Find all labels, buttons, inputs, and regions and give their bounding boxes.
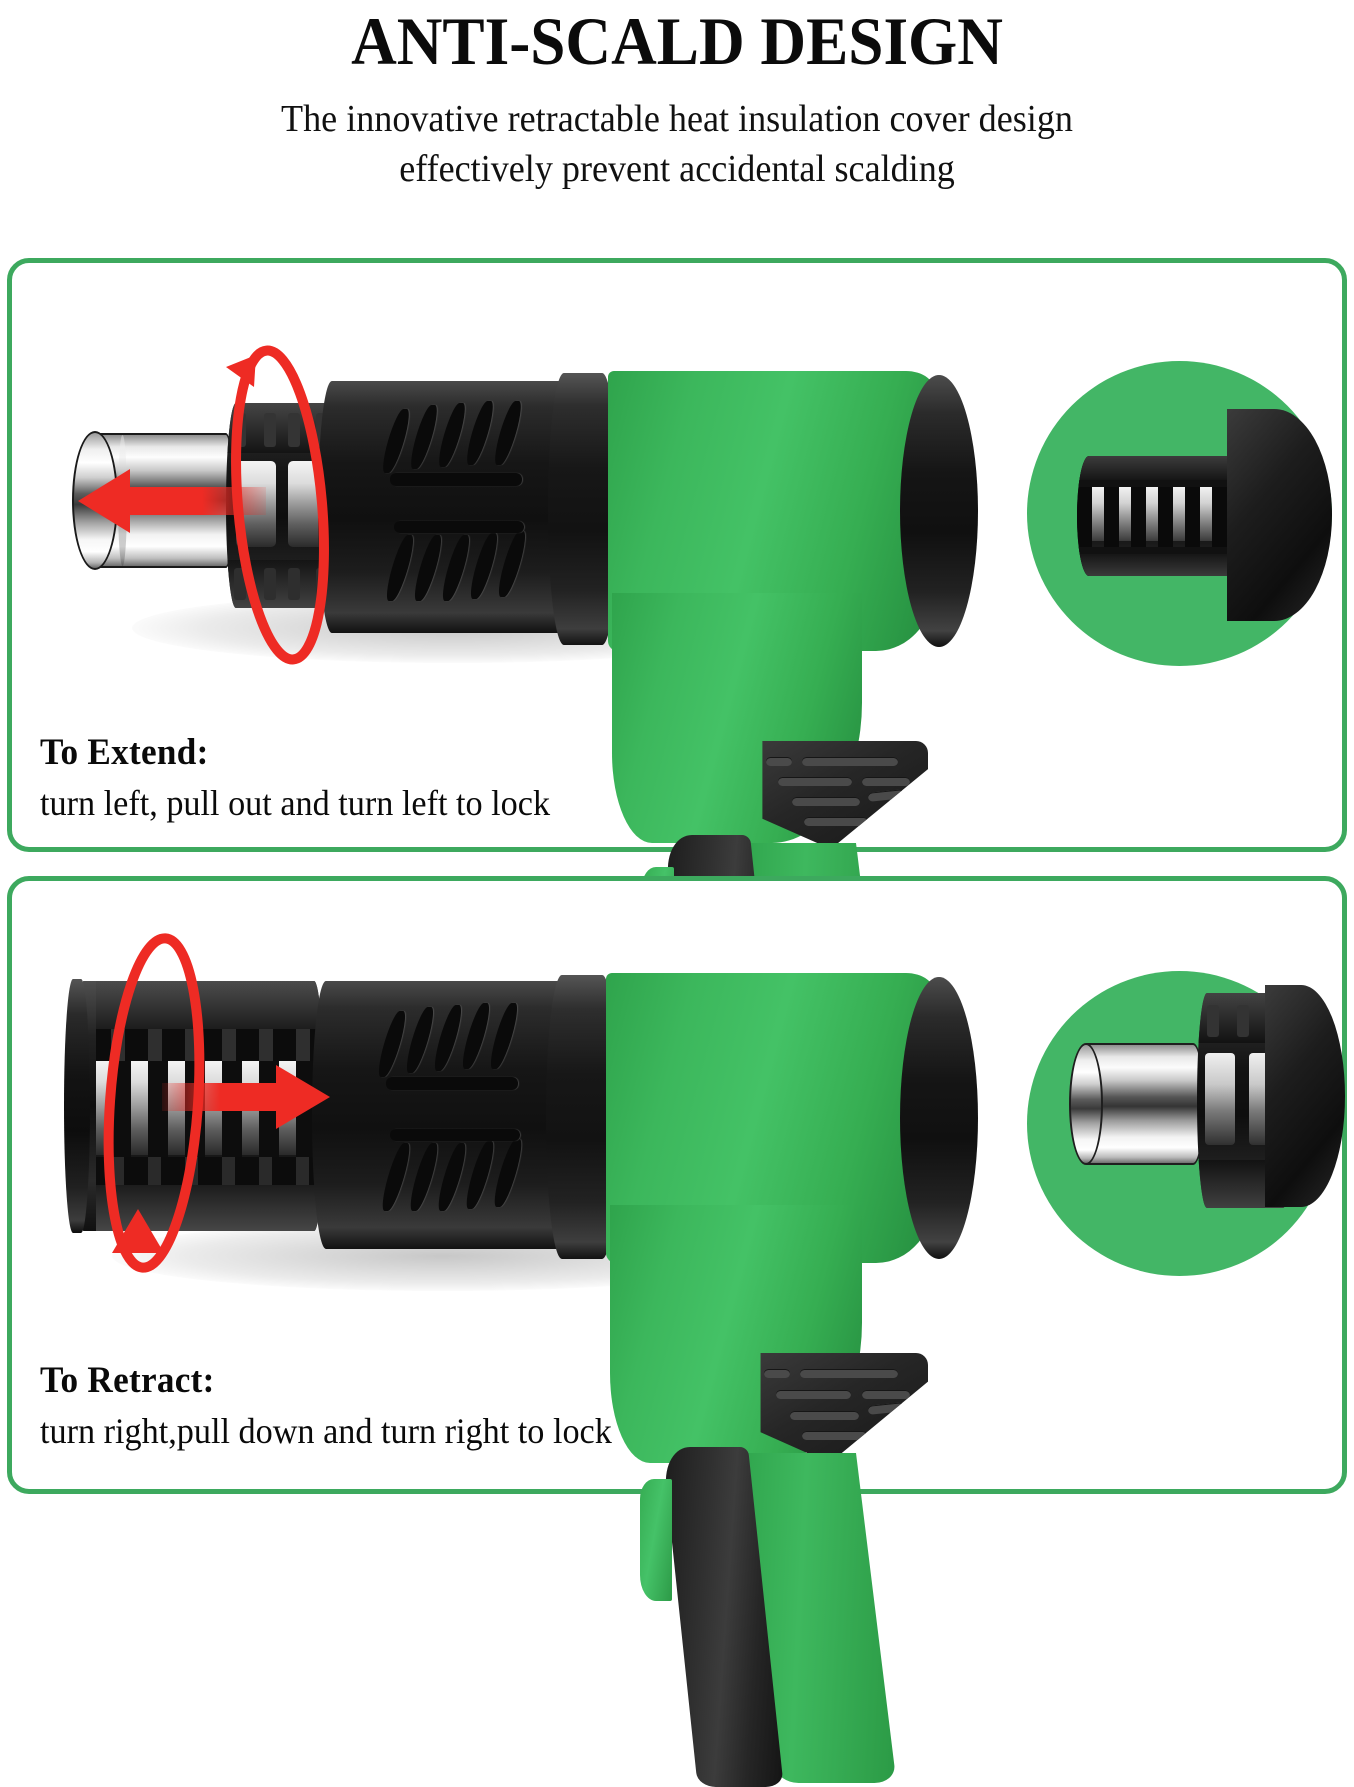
caption-body-extend: turn left, pull out and turn left to loc… (40, 782, 550, 824)
inset-endcap-retract (1265, 985, 1345, 1207)
subtitle-line-1: The innovative retractable heat insulati… (34, 95, 1320, 144)
caption-title-extend: To Extend: (40, 731, 550, 774)
panel-extend: COMTO + – (7, 258, 1347, 852)
caption-retract: To Retract: turn right,pull down and tur… (40, 1359, 642, 1452)
nozzle-tip-extend (72, 431, 118, 570)
caption-extend: To Extend: turn left, pull out and turn … (40, 731, 577, 824)
trigger-retract[interactable] (640, 1479, 672, 1601)
inset-circle-extend (1027, 361, 1332, 666)
panel-retract: COMTO + – (7, 876, 1347, 1494)
caption-title-retract: To Retract: (40, 1359, 612, 1402)
cage-left-rim-retract (64, 979, 90, 1233)
inset-nozzle-tip-retract (1069, 1043, 1103, 1165)
inset-endcap-extend (1227, 409, 1332, 621)
subtitle-line-2: effectively prevent accidental scalding (34, 145, 1320, 194)
caption-body-retract: turn right,pull down and turn right to l… (40, 1410, 612, 1452)
nozzle-cage-retract (74, 981, 324, 1231)
page-title: ANTI-SCALD DESIGN (47, 6, 1306, 77)
header: ANTI-SCALD DESIGN The innovative retract… (0, 0, 1354, 194)
body-endcap-retract (900, 977, 978, 1259)
nozzle-ring-extend (118, 435, 127, 566)
body-endcap-extend (900, 375, 978, 647)
inset-circle-retract (1027, 971, 1332, 1276)
